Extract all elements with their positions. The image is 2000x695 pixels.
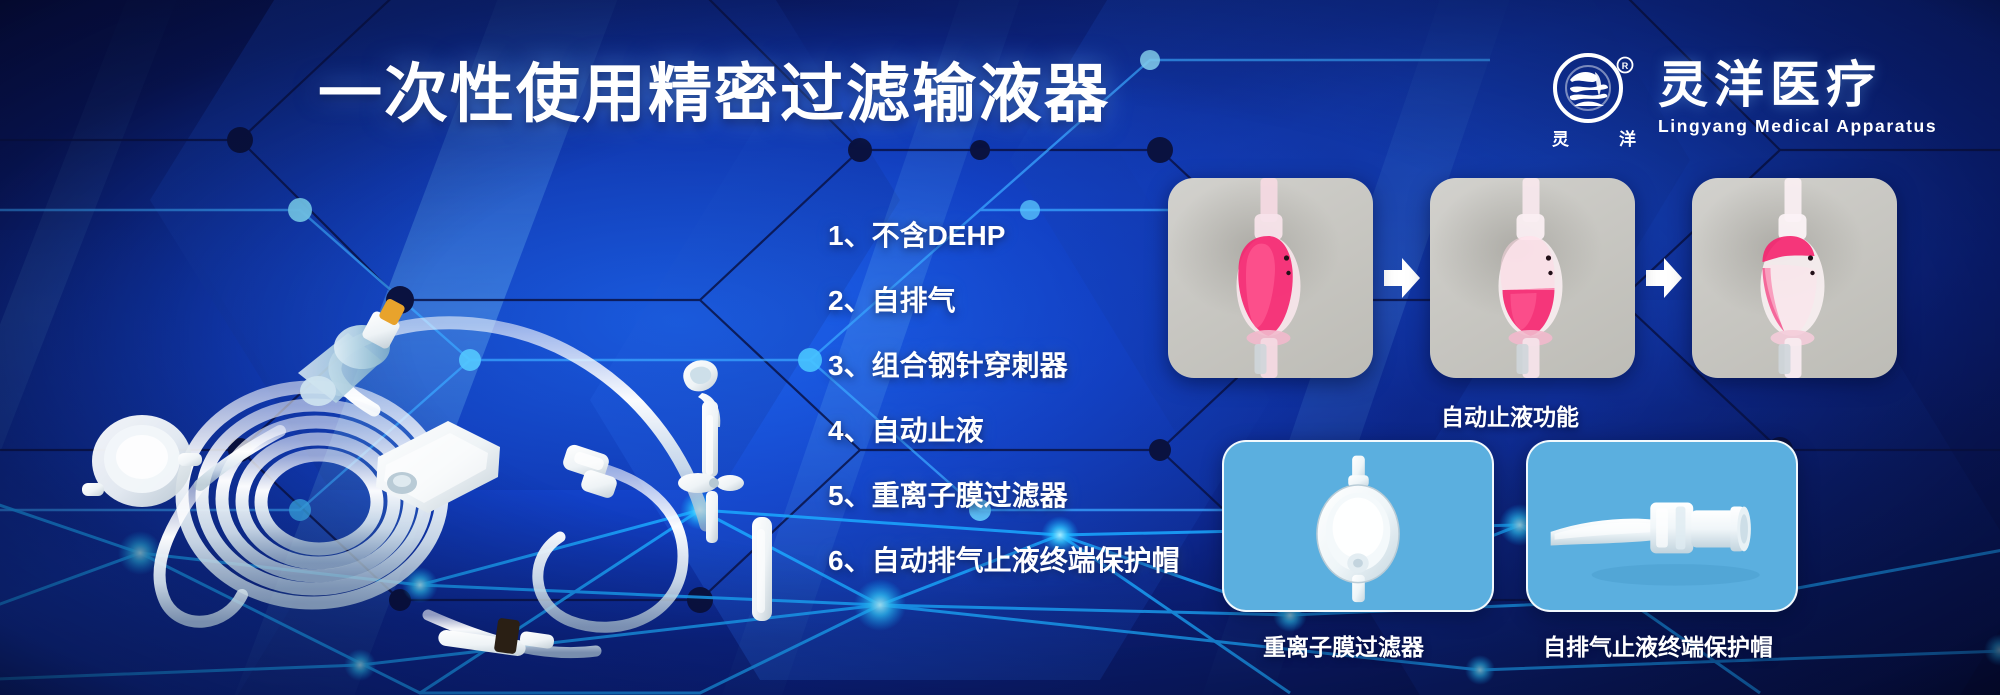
svg-text:R: R [1622,61,1629,71]
brand-name-en: Lingyang Medical Apparatus [1658,116,1937,137]
list-item: 5、重离子膜过滤器 [828,482,1180,510]
product-banner: 一次性使用精密过滤输液器 R 灵 洋 灵洋医疗 Lingyang [0,0,2000,695]
sequence-arrow-1 [1373,178,1430,378]
list-item: 1、不含DEHP [828,222,1180,250]
list-item: 2、自排气 [828,287,1180,315]
auto-stop-caption: 自动止液功能 [1441,398,1579,432]
arrow-right-icon [1644,256,1684,300]
emblem-right-char: 洋 [1619,125,1636,150]
protective-cap-photo [1526,440,1798,612]
auto-stop-sequence-panels [1168,178,1897,378]
disposable-precision-filter-infusion-set-photo [30,165,820,685]
sequence-frame-1 [1168,178,1373,378]
sequence-arrow-2 [1635,178,1692,378]
protective-cap-caption: 自排气止液终端保护帽 [1543,628,1773,662]
list-item: 3、组合钢针穿刺器 [828,352,1180,380]
brand-logo: R 灵 洋 灵洋医疗 Lingyang Medical Apparatus [1548,48,1937,148]
brand-name-cn: 灵洋医疗 [1658,59,1937,111]
filter-caption: 重离子膜过滤器 [1263,628,1424,662]
page-title: 一次性使用精密过滤输液器 [318,62,1110,126]
heavy-ion-membrane-filter-photo [1222,440,1494,612]
component-panels [1222,440,1798,612]
lingyang-wave-emblem-icon: R 灵 洋 [1548,48,1640,148]
sequence-frame-3 [1692,178,1897,378]
arrow-right-icon [1382,256,1422,300]
list-item: 4、自动止液 [828,417,1180,445]
feature-list: 1、不含DEHP 2、自排气 3、组合钢针穿刺器 4、自动止液 5、重离子膜过滤… [828,222,1180,575]
sequence-frame-2 [1430,178,1635,378]
emblem-left-char: 灵 [1552,125,1569,150]
list-item: 6、自动排气止液终端保护帽 [828,547,1180,575]
